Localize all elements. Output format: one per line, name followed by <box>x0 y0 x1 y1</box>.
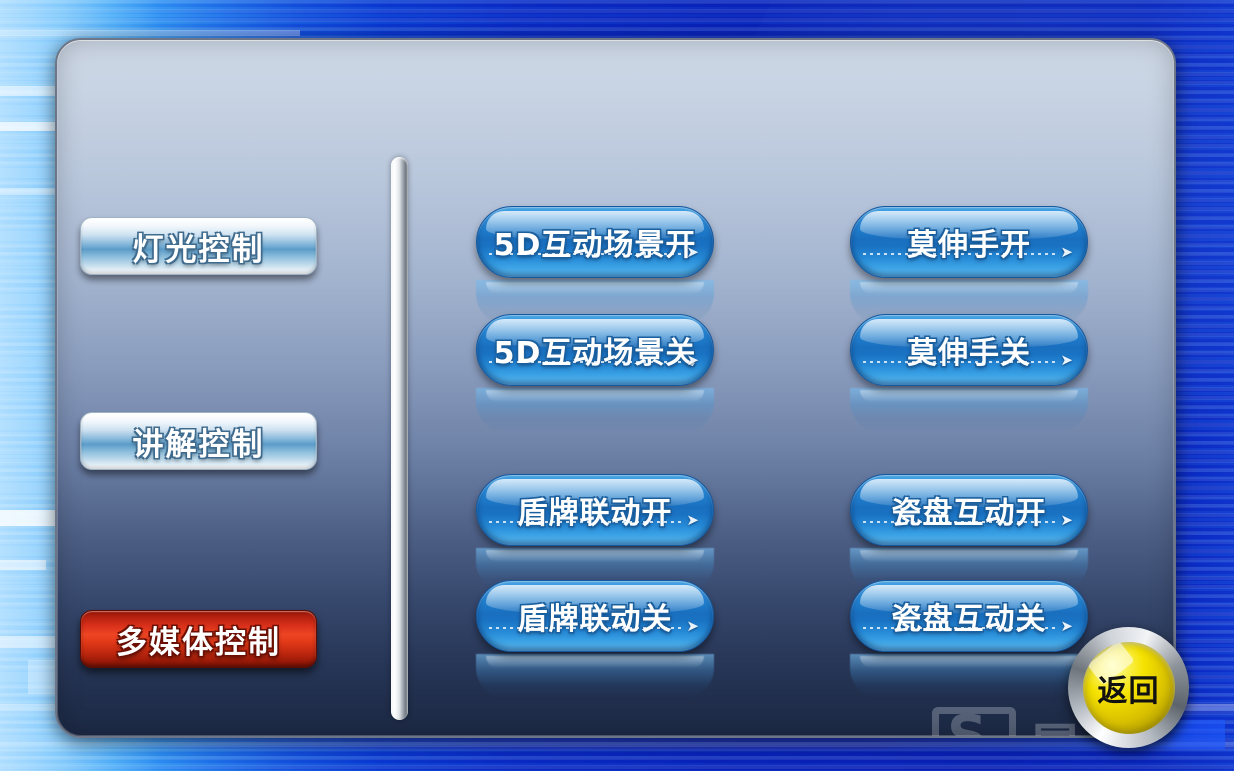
button-reflection <box>476 388 714 432</box>
sidebar-item-label: 灯光控制 <box>133 224 265 269</box>
action-button-label: 5D互动场景关 <box>494 328 697 372</box>
sidebar-item-label: 讲解控制 <box>133 419 265 464</box>
sidebar-item-label: 多媒体控制 <box>116 617 281 662</box>
action-button-do-not-touch-off[interactable]: 莫伸手关 ➤ <box>850 314 1088 386</box>
button-reflection <box>850 654 1088 698</box>
chevron-right-icon: ➤ <box>1060 513 1073 528</box>
button-reflection <box>850 388 1088 432</box>
action-button-5d-scene-off[interactable]: 5D互动场景关 ➤ <box>476 314 714 386</box>
action-button-label: 盾牌联动开 <box>518 488 673 532</box>
background-block <box>0 122 62 131</box>
action-button-label: 瓷盘互动开 <box>892 488 1047 532</box>
background-block <box>0 560 46 570</box>
watermark-logo-icon <box>932 707 1016 738</box>
action-button-porcelain-interaction-off[interactable]: 瓷盘互动关 ➤ <box>850 580 1088 652</box>
action-button-label: 莫伸手开 <box>907 220 1031 264</box>
chevron-right-icon: ➤ <box>1060 619 1073 634</box>
vertical-divider <box>391 157 408 720</box>
return-button-face: 返回 <box>1083 642 1175 734</box>
control-panel: 灯光控制 讲解控制 多媒体控制 5D互动场景开 ➤ 5D互动场景关 ➤ 盾牌联动… <box>55 38 1176 738</box>
action-button-do-not-touch-on[interactable]: 莫伸手开 ➤ <box>850 206 1088 278</box>
action-button-label: 瓷盘互动关 <box>892 594 1047 638</box>
return-button[interactable]: 返回 <box>1068 627 1189 748</box>
action-button-shield-linkage-on[interactable]: 盾牌联动开 ➤ <box>476 474 714 546</box>
action-button-label: 盾牌联动关 <box>518 594 673 638</box>
action-button-label: 莫伸手关 <box>907 328 1031 372</box>
action-button-porcelain-interaction-on[interactable]: 瓷盘互动开 ➤ <box>850 474 1088 546</box>
chevron-right-icon: ➤ <box>1060 245 1073 260</box>
action-button-5d-scene-on[interactable]: 5D互动场景开 ➤ <box>476 206 714 278</box>
sidebar-item-lighting-control[interactable]: 灯光控制 <box>80 217 317 275</box>
background-block <box>0 30 300 36</box>
action-button-shield-linkage-off[interactable]: 盾牌联动关 ➤ <box>476 580 714 652</box>
sidebar-item-multimedia-control[interactable]: 多媒体控制 <box>80 610 317 668</box>
return-button-label: 返回 <box>1098 666 1160 710</box>
button-reflection <box>476 654 714 698</box>
chevron-right-icon: ➤ <box>686 619 699 634</box>
action-button-label: 5D互动场景开 <box>494 220 697 264</box>
chevron-right-icon: ➤ <box>1060 353 1073 368</box>
sidebar-item-narration-control[interactable]: 讲解控制 <box>80 412 317 470</box>
chevron-right-icon: ➤ <box>686 513 699 528</box>
